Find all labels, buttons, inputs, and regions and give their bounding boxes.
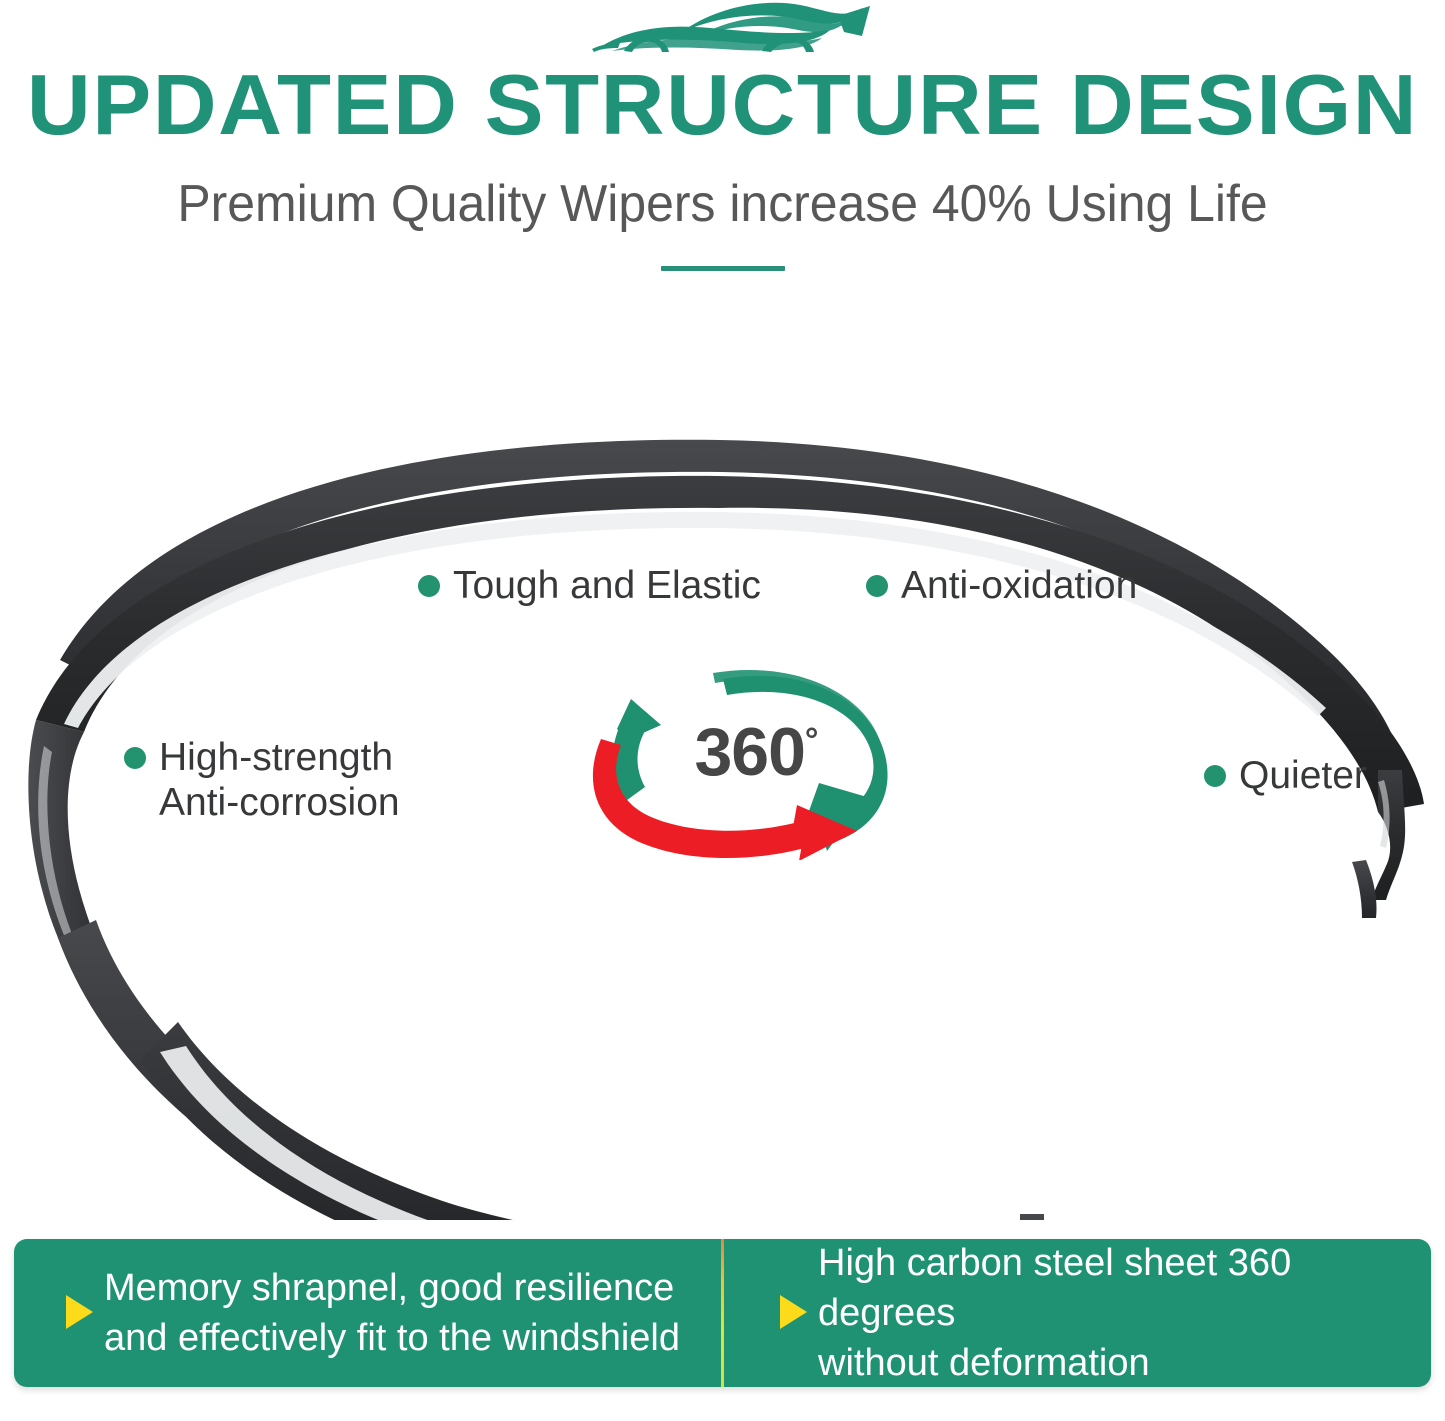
car-silhouette-icon — [586, 2, 886, 58]
triangle-bullet-icon — [780, 1295, 807, 1329]
feature-banner: Memory shrapnel, good resilience and eff… — [14, 1239, 1431, 1387]
page-subtitle: Premium Quality Wipers increase 40% Usin… — [29, 173, 1416, 235]
feature-label: High-strength Anti-corrosion — [159, 735, 400, 825]
feature-quieter: Quieter — [1204, 753, 1367, 798]
banner-text: High carbon steel sheet 360 degrees with… — [818, 1239, 1405, 1387]
feature-label: Tough and Elastic — [453, 563, 761, 608]
bullet-dot-icon — [124, 747, 146, 769]
feature-tough-and-elastic: Tough and Elastic — [418, 563, 761, 608]
product-infographic-page: UPDATED STRUCTURE DESIGN Premium Quality… — [0, 0, 1445, 1421]
feature-label: Anti-oxidation — [901, 563, 1137, 608]
feature-high-strength-anti-corrosion: High-strength Anti-corrosion — [124, 735, 400, 825]
title-divider — [661, 266, 785, 271]
triangle-bullet-icon — [66, 1295, 93, 1329]
bullet-dot-icon — [1204, 765, 1226, 787]
banner-text: Memory shrapnel, good resilience and eff… — [104, 1263, 680, 1363]
bullet-dot-icon — [418, 575, 440, 597]
360-badge-text: 360° — [575, 715, 915, 789]
degree-symbol-icon: ° — [805, 721, 818, 759]
bullet-dot-icon — [866, 575, 888, 597]
banner-item-right: High carbon steel sheet 360 degrees with… — [724, 1239, 1431, 1387]
page-title: UPDATED STRUCTURE DESIGN — [0, 58, 1445, 154]
banner-item-left: Memory shrapnel, good resilience and eff… — [14, 1239, 721, 1387]
feature-label: Quieter — [1239, 753, 1367, 798]
feature-anti-oxidation: Anti-oxidation — [866, 563, 1137, 608]
360-degree-badge: 360° — [575, 655, 915, 860]
360-number: 360 — [694, 714, 804, 790]
